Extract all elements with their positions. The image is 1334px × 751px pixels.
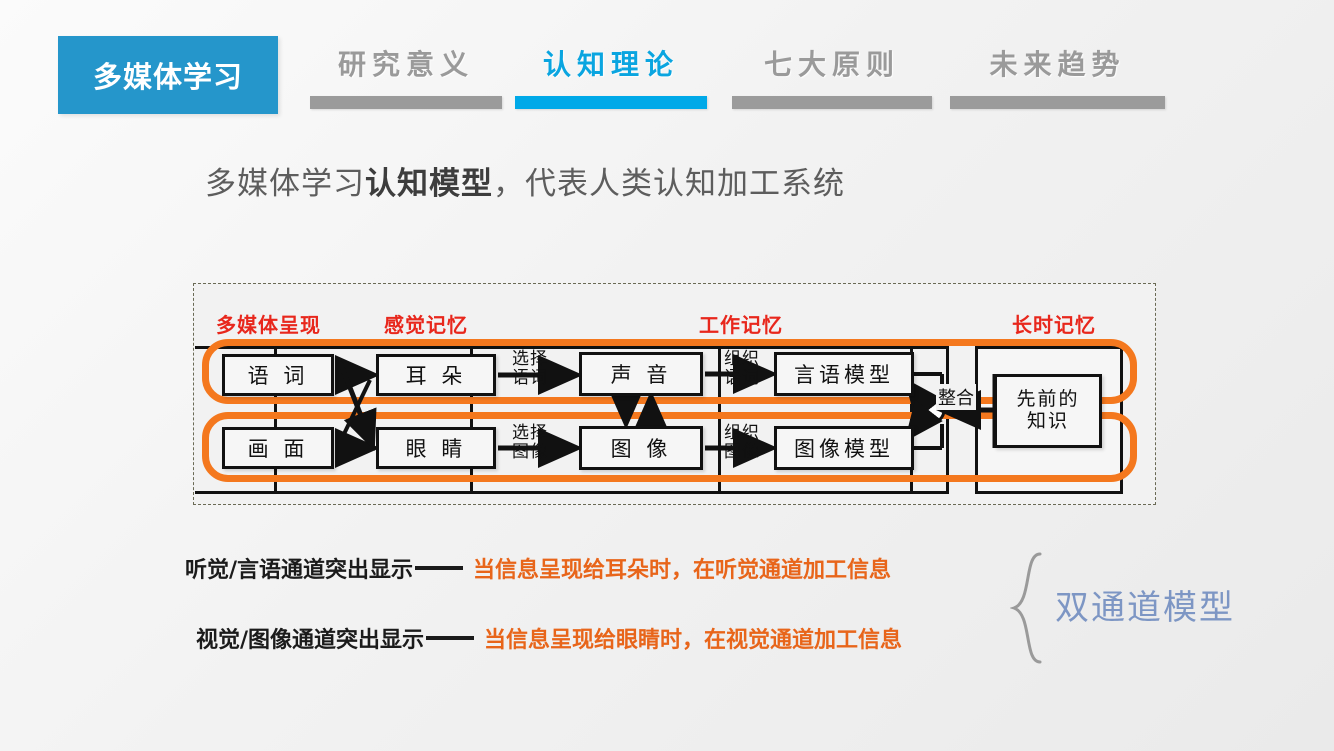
process-organize-words: 组织 语词 (724, 350, 760, 388)
brand-chip: 多媒体学习 (58, 36, 278, 114)
prior-knowledge-line-1: 先前的 (1016, 389, 1079, 411)
tab-research-significance[interactable]: 研究意义 (310, 36, 502, 114)
process-line-2: 图像 (512, 443, 548, 462)
process-organize-images: 组织 图像 (724, 424, 760, 462)
legend-value: 当信息呈现给耳朵时，在听觉通道加工信息 (473, 552, 891, 584)
node-pictures: 画 面 (222, 427, 334, 469)
process-line-2: 语词 (512, 369, 548, 388)
tab-underline (515, 96, 707, 109)
node-images: 图 像 (579, 426, 703, 470)
page-subtitle: 多媒体学习认知模型，代表人类认知加工系统 (205, 158, 845, 203)
process-line-2: 图像 (724, 443, 760, 462)
tab-underline (950, 96, 1165, 109)
legend-value: 当信息呈现给眼睛时，在视觉通道加工信息 (484, 622, 902, 654)
legend-row-visual: 视觉/图像通道突出显示 当信息呈现给眼睛时，在视觉通道加工信息 (196, 622, 902, 654)
node-ears: 耳 朵 (376, 354, 496, 396)
process-line-1: 选择 (512, 424, 548, 443)
subtitle-emphasis: 认知模型 (365, 166, 493, 202)
process-line-1: 选择 (512, 350, 548, 369)
tab-future-trends[interactable]: 未来趋势 (950, 36, 1165, 114)
process-select-words: 选择 语词 (512, 350, 548, 388)
tab-underline (310, 96, 502, 109)
node-verbal-model: 言语模型 (774, 352, 914, 396)
page-header: 多媒体学习 研究意义 认知理论 七大原则 未来趋势 (0, 0, 1334, 130)
tab-seven-principles[interactable]: 七大原则 (732, 36, 932, 114)
curly-brace-icon (1010, 552, 1050, 664)
node-pictorial-model: 图像模型 (774, 426, 914, 470)
tab-label: 未来趋势 (989, 36, 1125, 94)
process-line-2: 语词 (724, 369, 760, 388)
node-sounds: 声 音 (579, 352, 703, 396)
tab-underline (732, 96, 932, 109)
legend-row-auditory: 听觉/言语通道突出显示 当信息呈现给耳朵时，在听觉通道加工信息 (185, 552, 891, 584)
process-select-images: 选择 图像 (512, 424, 548, 462)
cognitive-model-diagram: 多媒体呈现 感觉记忆 工作记忆 长时记忆 (193, 283, 1156, 505)
brand-title: 多媒体学习 (93, 54, 243, 96)
tab-label: 认知理论 (543, 36, 679, 94)
tab-label: 七大原则 (764, 36, 900, 94)
dual-channel-model-label: 双通道模型 (1055, 580, 1235, 629)
prior-knowledge-line-2: 知识 (1027, 411, 1069, 433)
tab-label: 研究意义 (338, 36, 474, 94)
process-line-1: 组织 (724, 350, 760, 369)
legend-key: 听觉/言语通道突出显示 (185, 552, 413, 584)
subtitle-prefix: 多媒体学习 (205, 166, 365, 202)
nav-tabs: 研究意义 认知理论 七大原则 未来趋势 (300, 36, 1200, 116)
node-prior-knowledge: 先前的 知识 (994, 374, 1102, 448)
process-line-1: 组织 (724, 424, 760, 443)
tab-cognitive-theory[interactable]: 认知理论 (515, 36, 707, 114)
process-integrate: 整合 (936, 384, 976, 410)
node-words: 语 词 (222, 354, 334, 396)
subtitle-suffix: ，代表人类认知加工系统 (493, 166, 845, 202)
node-eyes: 眼 睛 (376, 427, 496, 469)
legend-key: 视觉/图像通道突出显示 (196, 622, 424, 654)
legend-dash-icon (426, 636, 474, 640)
legend-dash-icon (415, 566, 463, 570)
